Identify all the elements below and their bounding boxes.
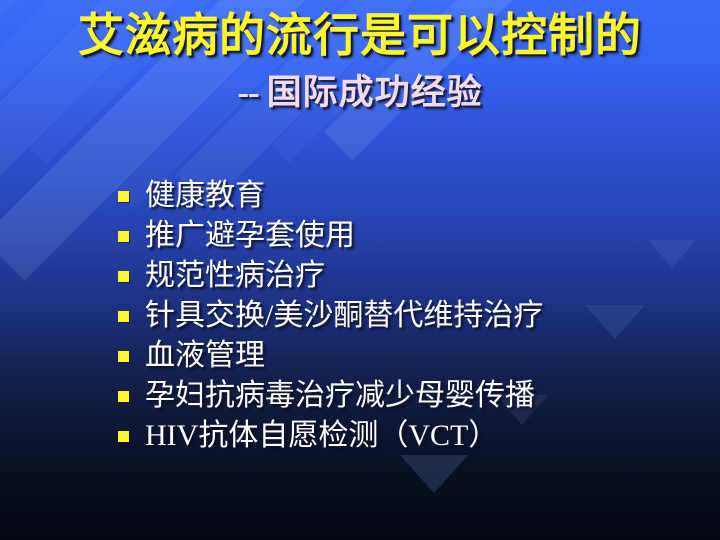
list-item: 针具交换/美沙酮替代维持治疗 — [118, 296, 698, 336]
subtitle-text: 国际成功经验 — [267, 73, 483, 112]
subtitle-dashes: -- — [237, 73, 258, 112]
stripe-chevron-tip — [400, 455, 468, 493]
list-item: 健康教育 — [118, 176, 698, 216]
square-bullet-icon — [118, 231, 129, 242]
list-item-label: 针具交换/美沙酮替代维持治疗 — [145, 299, 543, 333]
list-item-label: 健康教育 — [145, 179, 265, 213]
bullet-list: 健康教育 推广避孕套使用 规范性病治疗 针具交换/美沙酮替代维持治疗 血液管理 … — [118, 176, 698, 456]
list-item: 血液管理 — [118, 336, 698, 376]
slide-subtitle: --国际成功经验 — [0, 71, 720, 115]
list-item-label: HIV抗体自愿检测（VCT） — [145, 419, 498, 453]
square-bullet-icon — [118, 391, 129, 402]
list-item: 孕妇抗病毒治疗减少母婴传播 — [118, 376, 698, 416]
presentation-slide: 艾滋病的流行是可以控制的 --国际成功经验 健康教育 推广避孕套使用 规范性病治… — [0, 0, 720, 540]
slide-title-block: 艾滋病的流行是可以控制的 --国际成功经验 — [0, 8, 720, 115]
list-item-label: 孕妇抗病毒治疗减少母婴传播 — [145, 379, 535, 413]
square-bullet-icon — [118, 351, 129, 362]
square-bullet-icon — [118, 191, 129, 202]
list-item: HIV抗体自愿检测（VCT） — [118, 416, 698, 456]
list-item: 规范性病治疗 — [118, 256, 698, 296]
square-bullet-icon — [118, 271, 129, 282]
slide-title: 艾滋病的流行是可以控制的 — [0, 8, 720, 64]
list-item-label: 血液管理 — [145, 339, 265, 373]
list-item-label: 推广避孕套使用 — [145, 219, 355, 253]
list-item-label: 规范性病治疗 — [145, 259, 325, 293]
square-bullet-icon — [118, 311, 129, 322]
square-bullet-icon — [118, 431, 129, 442]
list-item: 推广避孕套使用 — [118, 216, 698, 256]
